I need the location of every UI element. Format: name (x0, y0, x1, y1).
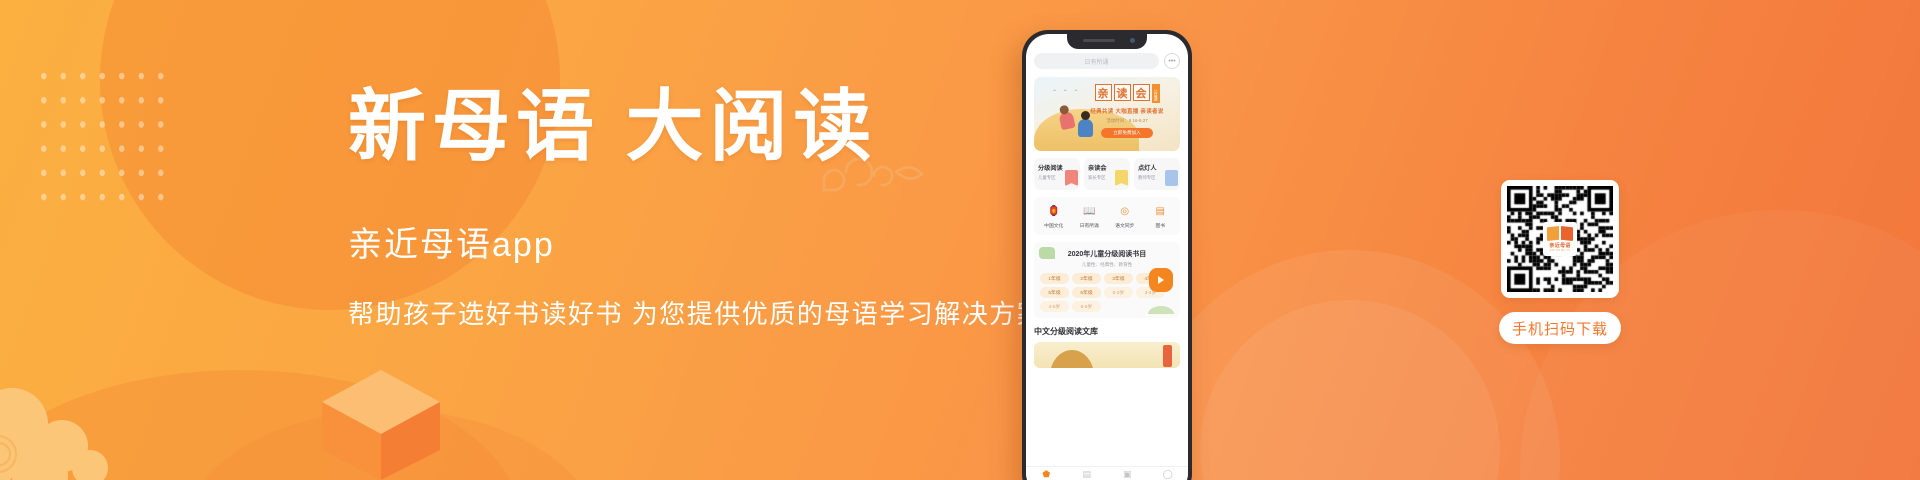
library-strip[interactable] (1034, 342, 1180, 368)
entry-card-teacher[interactable]: 点灯人 教师专区 (1134, 158, 1180, 190)
qr-logo-zh: 亲近母语 (1549, 242, 1570, 249)
page-title: 新母语 大阅读 (348, 86, 1048, 169)
hero-title: 亲 读 会 公益课 (1080, 84, 1174, 103)
quick-icon-daily-recite[interactable]: 📖 日有所诵 (1072, 204, 1108, 229)
qr-logo: 亲近母语 QIN JIN MU YU (1543, 222, 1577, 256)
hero-subtitle: 经典共读 大咖直播 亲读者说 (1080, 107, 1174, 115)
grade-pill[interactable]: 2年级 (1072, 273, 1101, 284)
bookmark-icon (1115, 170, 1128, 186)
age-pill[interactable]: 0-3岁 (1104, 287, 1133, 298)
hero-title-char-2: 读 (1114, 84, 1131, 101)
phone-screen: 日有所诵 ••• ⌃ ⌃ ⌃ 亲 读 会 公益课 (1026, 34, 1188, 480)
sync-icon: ◎ (1117, 204, 1132, 219)
tab-reading[interactable]: ▤ 小步读书 (1067, 470, 1108, 480)
search-input[interactable]: 日有所诵 (1034, 53, 1159, 69)
promo-banner: 新母语 大阅读 亲近母语app 帮助孩子选好书读好书 为您提供优质的母语学习解决… (0, 0, 1920, 480)
qr-download-block: 亲近母语 QIN JIN MU YU 手机扫码下载 (1480, 180, 1640, 344)
quick-icon-label: 语文同步 (1107, 222, 1143, 229)
decor-circle-behind-phone-inner (1200, 300, 1500, 480)
book-list-card[interactable]: 2020年儿童分级阅读书目 儿童性、经典性、教育性 1年级 2年级 3年级 4年… (1034, 242, 1180, 318)
book-card-subtitle: 儿童性、经典性、教育性 (1040, 262, 1174, 268)
decor-hill-center (180, 410, 600, 480)
book-icon: 📖 (1082, 204, 1097, 219)
qr-logo-en: QIN JIN MU YU (1550, 249, 1571, 252)
decor-dot-grid (32, 62, 172, 214)
quick-icon-label: 日有所诵 (1072, 222, 1108, 229)
quick-icon-textbook-sync[interactable]: ◎ 语文同步 (1107, 204, 1143, 229)
grade-pill[interactable]: 5年级 (1040, 287, 1069, 298)
banner-tagline: 帮助孩子选好书读好书 为您提供优质的母语学习解决方案 (348, 294, 1048, 331)
quick-icon-label: 中国文化 (1036, 222, 1072, 229)
hero-join-button[interactable]: 立即免费加入 (1101, 128, 1153, 138)
phone-mockup: 日有所诵 ••• ⌃ ⌃ ⌃ 亲 读 会 公益课 (1022, 30, 1192, 480)
hero-date: 活动时间：9.16-9.27 (1080, 118, 1174, 124)
hero-title-char-1: 亲 (1095, 84, 1112, 101)
qr-code[interactable]: 亲近母语 QIN JIN MU YU (1501, 180, 1619, 298)
entry-card-graded-reading[interactable]: 分级阅读 儿童专区 (1034, 158, 1080, 190)
tab-profile[interactable]: ◯ 我的 (1148, 470, 1189, 480)
ellipsis-icon[interactable]: ••• (1164, 53, 1180, 69)
quote-icon (1039, 247, 1055, 259)
book-logo-icon (1547, 226, 1573, 241)
download-button[interactable]: 手机扫码下载 (1499, 312, 1621, 344)
tab-home[interactable]: ⬟ 首页 (1026, 470, 1067, 480)
entry-card-parent-club[interactable]: 亲读会 家长专区 (1084, 158, 1130, 190)
lantern-icon: 🏮 (1046, 204, 1061, 219)
app-search-row: 日有所诵 ••• (1034, 53, 1180, 69)
decor-cloud-icon (0, 372, 146, 480)
entry-cards: 分级阅读 儿童专区 亲读会 家长专区 点灯人 教师专区 (1034, 158, 1180, 190)
user-icon: ◯ (1148, 470, 1189, 479)
quick-icon-books[interactable]: ▤ 图书 (1143, 204, 1179, 229)
person-icon (1165, 170, 1178, 186)
book-card-title: 2020年儿童分级阅读书目 (1040, 249, 1174, 259)
banner-subtitle: 亲近母语app (348, 217, 1048, 266)
age-pill[interactable]: 5-6岁 (1072, 301, 1101, 312)
grade-pill[interactable]: 6年级 (1072, 287, 1101, 298)
home-icon: ⬟ (1026, 470, 1067, 479)
bottom-tab-bar: ⬟ 首页 ▤ 小步读书 ▣ 学习 ◯ 我的 (1026, 466, 1188, 480)
hero-ribbon: 公益课 (1152, 84, 1160, 103)
quick-icon-chinese-culture[interactable]: 🏮 中国文化 (1036, 204, 1072, 229)
hero-text-group: 亲 读 会 公益课 经典共读 大咖直播 亲读者说 活动时间：9.16-9.27 … (1080, 84, 1174, 138)
quick-icon-row: 🏮 中国文化 📖 日有所诵 ◎ 语文同步 ▤ 图书 (1034, 197, 1180, 235)
decor-cube-icon (318, 364, 444, 480)
library-icon: ▤ (1153, 204, 1168, 219)
decor-hill-left (0, 370, 520, 480)
age-pill[interactable]: 4-5岁 (1040, 301, 1069, 312)
library-section-title: 中文分级阅读文库 (1034, 326, 1180, 337)
grade-pill[interactable]: 1年级 (1040, 273, 1069, 284)
play-icon[interactable] (1149, 268, 1173, 292)
hero-title-char-3: 会 (1133, 84, 1150, 101)
book-icon: ▤ (1067, 470, 1108, 479)
quick-icon-label: 图书 (1143, 222, 1179, 229)
hero-banner[interactable]: ⌃ ⌃ ⌃ 亲 读 会 公益课 经典共读 大咖直播 亲读者说 活动时间：9.16… (1034, 77, 1180, 151)
app-screen: 日有所诵 ••• ⌃ ⌃ ⌃ 亲 读 会 公益课 (1026, 34, 1188, 480)
phone-notch (1067, 34, 1147, 49)
grade-pill[interactable]: 3年级 (1104, 273, 1133, 284)
clipboard-icon: ▣ (1107, 470, 1148, 479)
bookmark-icon (1065, 170, 1078, 186)
banner-copy: 新母语 大阅读 亲近母语app 帮助孩子选好书读好书 为您提供优质的母语学习解决… (348, 86, 1048, 331)
hero-birds-icon: ⌃ ⌃ ⌃ (1052, 89, 1080, 96)
tab-study[interactable]: ▣ 学习 (1107, 470, 1148, 480)
